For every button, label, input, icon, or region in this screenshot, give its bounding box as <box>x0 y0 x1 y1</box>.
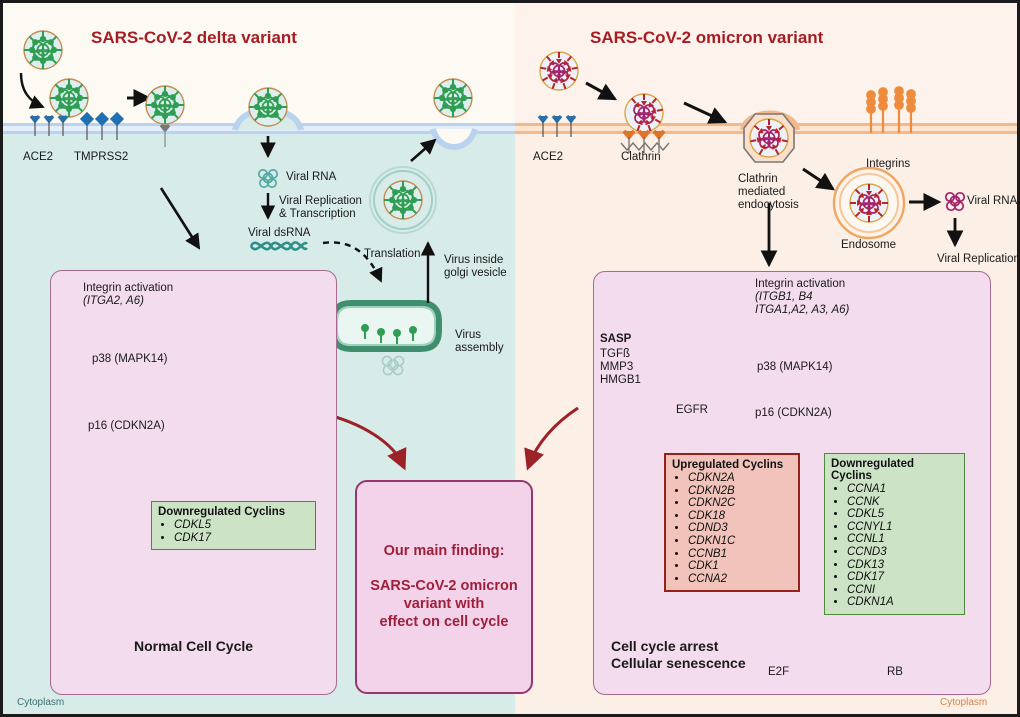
virus-inside-golgi-label-1: Virus inside <box>444 254 503 267</box>
gene-list-item: CDK13 <box>847 559 958 572</box>
upregulated-cyclins-box: Upregulated Cyclins CDKN2ACDKN2BCDKN2CCD… <box>664 453 800 592</box>
integrin-genes-label-right-2: ITGA1,A2, A3, A6) <box>755 304 849 317</box>
left-panel-title: SARS-CoV-2 delta variant <box>91 28 297 48</box>
left-pathway-box <box>50 270 337 695</box>
integrin-activation-label-left: Integrin activation <box>83 282 173 295</box>
main-finding-label: Our main finding: <box>384 543 505 559</box>
cytoplasm-label-right: Cytoplasm <box>940 697 987 708</box>
sasp-title: SASP <box>600 333 631 346</box>
gene-list-item: CCNA2 <box>688 573 792 586</box>
viral-transcription-label-left: & Transcription <box>279 208 356 221</box>
virus-assembly-label-2: assembly <box>455 342 504 355</box>
main-finding-line3: effect on cell cycle <box>380 614 509 630</box>
ace2-label-left: ACE2 <box>23 151 53 164</box>
gene-list-item: CCNI <box>847 584 958 597</box>
gene-list-item: CDK17 <box>174 532 309 545</box>
gene-list-item: CDKN2A <box>688 472 792 485</box>
ace2-label-right: ACE2 <box>533 151 563 164</box>
virus-assembly-label-1: Virus <box>455 329 481 342</box>
downregulated-cyclins-box-left: Downregulated Cyclins CDKL5CDK17 <box>151 501 316 550</box>
gene-list-item: CDKN2B <box>688 485 792 498</box>
egfr-label: EGFR <box>676 404 708 417</box>
clathrin-label: Clathrin <box>621 151 661 164</box>
upregulated-cyclins-list: CDKN2ACDKN2BCDKN2CCDK18CDND3CDKN1CCCNB1C… <box>672 472 792 585</box>
sasp-item-mmp3: MMP3 <box>600 361 633 374</box>
downregulated-cyclins-title-left: Downregulated Cyclins <box>158 506 309 518</box>
viral-dsrna-label: Viral dsRNA <box>248 227 310 240</box>
cytoplasm-label-left: Cytoplasm <box>17 697 64 708</box>
p38-label-right: p38 (MAPK14) <box>757 361 832 374</box>
p16-label-right: p16 (CDKN2A) <box>755 407 832 420</box>
downregulated-cyclins-list-left: CDKL5CDK17 <box>158 519 309 544</box>
cme-label-1: Clathrin <box>738 173 778 186</box>
e2f-label: E2F <box>768 666 789 679</box>
gene-list-item: CCNL1 <box>847 533 958 546</box>
gene-list-item: CDND3 <box>688 522 792 535</box>
viral-replication-label-left: Viral Replication <box>279 195 362 208</box>
endosome-label: Endosome <box>841 239 896 252</box>
main-finding-box: Our main finding: SARS-CoV-2 omicron var… <box>355 480 533 694</box>
figure-canvas: SARS-CoV-2 delta variant SARS-CoV-2 omic… <box>0 0 1020 717</box>
sasp-item-tgfb: TGFß <box>600 348 630 361</box>
gene-list-item: CDKL5 <box>847 508 958 521</box>
sasp-item-hmgb1: HMGB1 <box>600 374 641 387</box>
gene-list-item: CCNYL1 <box>847 521 958 534</box>
rb-label: RB <box>887 666 903 679</box>
main-finding-line2: variant with <box>404 596 485 612</box>
gene-list-item: CDKN2C <box>688 497 792 510</box>
translation-label: Translation <box>364 248 420 261</box>
cme-label-2: mediated <box>738 186 785 199</box>
main-finding-line1: SARS-CoV-2 omicron <box>370 578 517 594</box>
gene-list-item: CDKL5 <box>174 519 309 532</box>
gene-list-item: CCNB1 <box>688 548 792 561</box>
integrin-activation-label-right: Integrin activation <box>755 278 845 291</box>
downregulated-cyclins-title-right: Downregulated Cyclins <box>831 458 958 482</box>
cell-cycle-arrest-label: Cell cycle arrest <box>611 640 718 653</box>
cme-label-3: endocytosis <box>738 199 799 212</box>
gene-list-item: CCNK <box>847 496 958 509</box>
virus-inside-golgi-label-2: golgi vesicle <box>444 267 507 280</box>
gene-list-item: CDK18 <box>688 510 792 523</box>
right-panel-title: SARS-CoV-2 omicron variant <box>590 28 823 48</box>
downregulated-cyclins-box-right: Downregulated Cyclins CCNA1CCNKCDKL5CCNY… <box>824 453 965 615</box>
viral-replication-label-right: Viral Replication <box>937 253 1020 266</box>
viral-rna-label-left: Viral RNA <box>286 171 336 184</box>
gene-list-item: CCNA1 <box>847 483 958 496</box>
gene-list-item: CDK1 <box>688 560 792 573</box>
integrin-genes-label-right-1: (ITGB1, B4 <box>755 291 813 304</box>
normal-cell-cycle-label: Normal Cell Cycle <box>134 640 253 653</box>
integrin-genes-label-left: (ITGA2, A6) <box>83 295 144 308</box>
p16-label-left: p16 (CDKN2A) <box>88 420 165 433</box>
gene-list-item: CDKN1C <box>688 535 792 548</box>
tmprss2-label: TMPRSS2 <box>74 151 128 164</box>
p38-label-left: p38 (MAPK14) <box>92 353 167 366</box>
gene-list-item: CDK17 <box>847 571 958 584</box>
gene-list-item: CDKN1A <box>847 596 958 609</box>
integrins-label: Integrins <box>866 158 910 171</box>
upregulated-cyclins-title: Upregulated Cyclins <box>672 459 792 471</box>
cellular-senescence-label: Cellular senescence <box>611 657 746 670</box>
downregulated-cyclins-list-right: CCNA1CCNKCDKL5CCNYL1CCNL1CCND3CDK13CDK17… <box>831 483 958 609</box>
viral-rna-label-right: Viral RNA <box>967 195 1017 208</box>
gene-list-item: CCND3 <box>847 546 958 559</box>
